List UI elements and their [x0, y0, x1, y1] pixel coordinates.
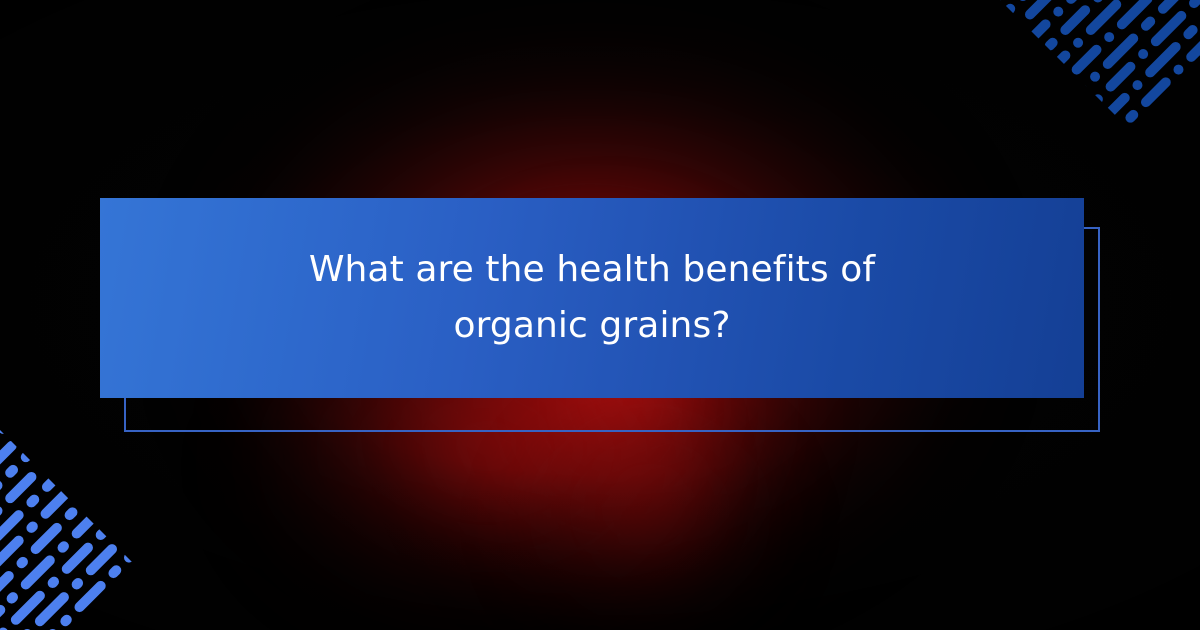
- question-text: What are the health benefits of organic …: [252, 242, 932, 354]
- poster-canvas: What are the health benefits of organic …: [0, 0, 1200, 630]
- question-card: What are the health benefits of organic …: [100, 198, 1084, 398]
